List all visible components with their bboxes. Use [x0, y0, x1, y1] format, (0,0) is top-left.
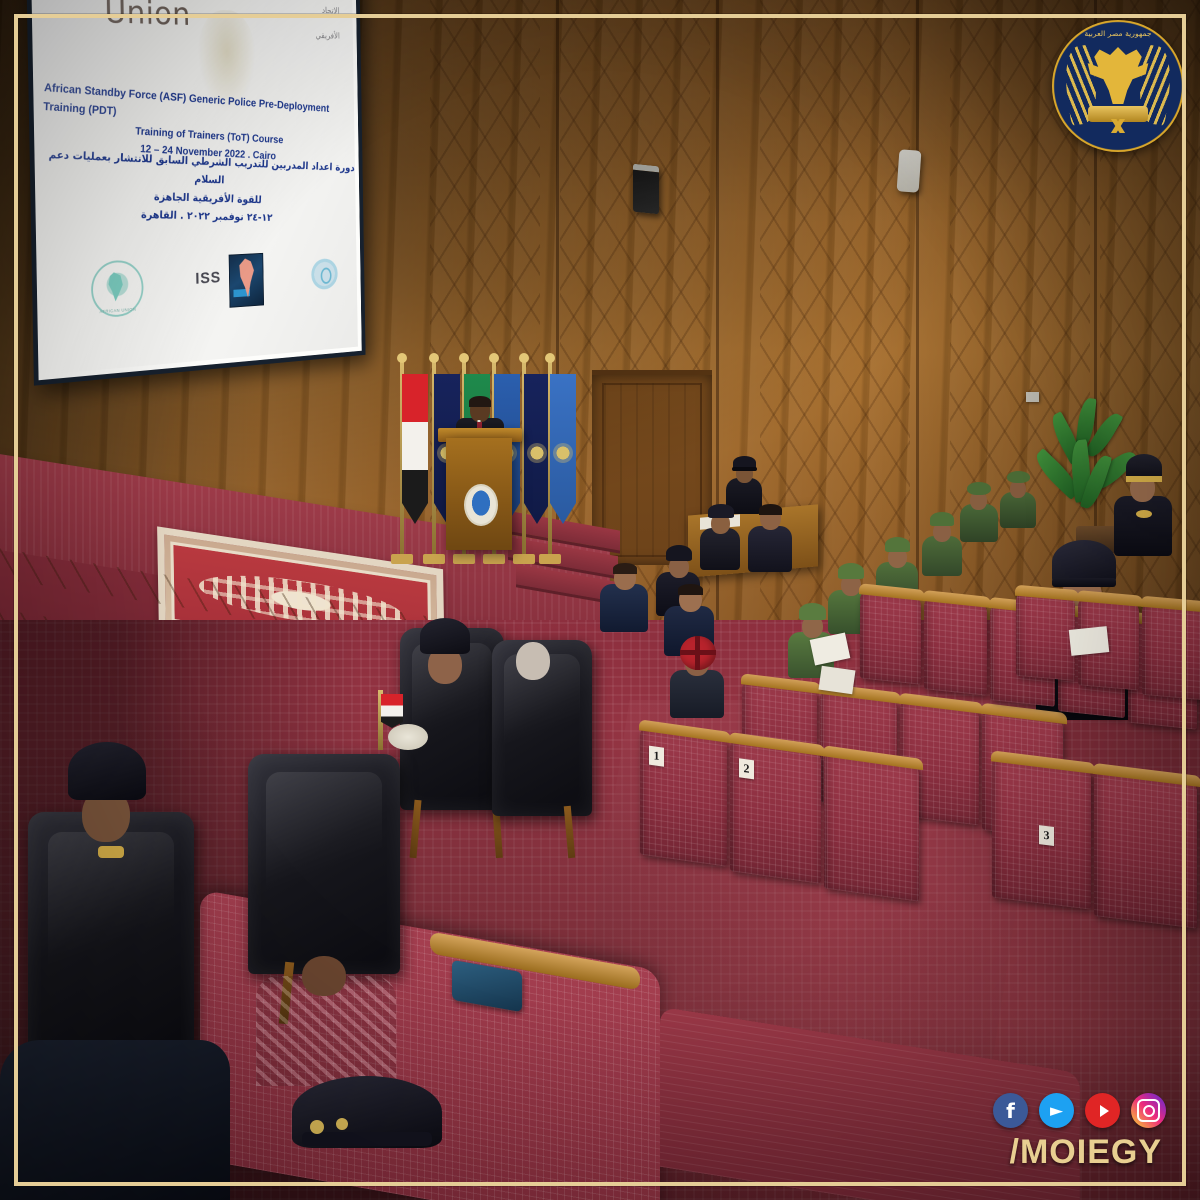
podium [446, 438, 512, 550]
seat-number: 3 [1039, 825, 1054, 846]
seat[interactable] [1016, 592, 1075, 681]
officer-foreground-left [48, 742, 168, 872]
flag-un-banner [550, 374, 576, 524]
iss-logo: ISS [195, 268, 221, 288]
attendee-front-row-cap [406, 616, 482, 706]
social-icon-row: f ► [976, 1093, 1166, 1128]
seat-row-right: 3 [992, 757, 1197, 928]
flag-navy-police [432, 360, 436, 560]
social-handle: /MOIEGY [976, 1133, 1166, 1172]
african-union-logo: AFRICAN UNION [91, 259, 144, 318]
seat[interactable] [824, 752, 919, 901]
attendee-patterned-dress [256, 956, 396, 1086]
seat-3[interactable]: 3 [992, 757, 1091, 909]
attendee-front-row-grey-hair [496, 626, 568, 712]
logo-arabic-text: جمهورية مصر العربية [1051, 29, 1186, 38]
attendee-red-beret [668, 632, 726, 718]
partner-blue-logo [311, 258, 338, 290]
slide-org-line2: Union [104, 0, 191, 33]
seat-1[interactable]: 1 [640, 726, 727, 866]
officer-green-cap [960, 480, 998, 542]
seat[interactable] [860, 590, 921, 684]
projection-screen: African Union الاتحاد الأفريقي African S… [26, 0, 366, 386]
officer-green-cap [1000, 470, 1036, 528]
attendee-suit [600, 552, 648, 632]
flag-navy-banner-2 [524, 374, 550, 524]
crossed-swords-icon [1092, 119, 1144, 133]
youtube-icon[interactable] [1085, 1093, 1120, 1128]
twitter-icon[interactable]: ► [1039, 1093, 1074, 1128]
vip-chair[interactable] [248, 754, 400, 974]
social-media-block: f ► /MOIEGY [976, 1093, 1166, 1172]
slide-arabic-header-1: الاتحاد [322, 7, 340, 17]
seat-number: 2 [739, 758, 754, 779]
officer-seated-head-table [700, 500, 740, 570]
desk-flag-egypt [381, 694, 403, 728]
attendee-foreground-silhouette [0, 1040, 230, 1200]
photo-canvas: African Union الاتحاد الأفريقي African S… [0, 0, 1200, 1200]
flag-united-nations [548, 360, 552, 560]
flag-navy-police-2 [522, 360, 526, 560]
seat[interactable] [924, 597, 987, 696]
slide-arabic-header-2: الأفريقي [316, 32, 340, 42]
desk-item [388, 724, 428, 750]
seat[interactable] [1142, 603, 1200, 701]
officer-foreground-bottom [292, 1076, 482, 1200]
ministry-of-interior-logo: جمهورية مصر العربية [1052, 20, 1184, 152]
official-seated-head-table [748, 496, 792, 572]
document-page [818, 666, 855, 694]
flag-egypt-banner [402, 374, 428, 524]
seat-2[interactable]: 2 [730, 739, 821, 884]
slide-arabic-block: دورة اعداد المدربين للتدريب الشرطي الساب… [40, 145, 360, 228]
screen-frame: African Union الاتحاد الأفريقي African S… [26, 0, 366, 386]
podium-seal [464, 484, 498, 526]
flag-egypt [400, 360, 404, 560]
facebook-icon[interactable]: f [993, 1093, 1028, 1128]
africa-map-logo [229, 253, 264, 308]
seat[interactable] [1094, 770, 1197, 929]
officer-green-uniform [922, 510, 962, 576]
seat-number: 1 [649, 746, 664, 767]
instagram-icon[interactable] [1131, 1093, 1166, 1128]
document-page [1069, 626, 1110, 656]
slide-logo-row: AFRICAN UNION ISS [36, 244, 361, 331]
slide-surface: African Union الاتحاد الأفريقي African S… [31, 0, 362, 380]
